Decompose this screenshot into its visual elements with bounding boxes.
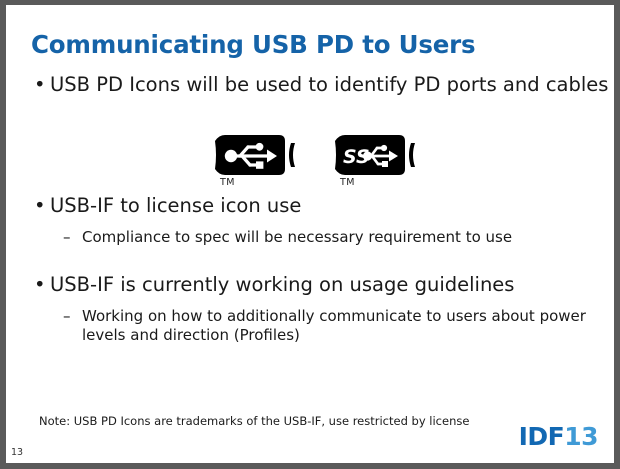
usb-pd-superspeed-icon: SS TM [333, 133, 423, 177]
bullet-marker: • [34, 273, 46, 296]
sub-bullet-marker: – [63, 228, 71, 246]
page-number: 13 [11, 447, 23, 458]
bullet-text: USB-IF is currently working on usage gui… [50, 273, 514, 296]
presentation-slide: Communicating USB PD to Users • USB PD I… [6, 5, 614, 463]
sub-bullet-text: Compliance to spec will be necessary req… [82, 228, 512, 246]
sub-bullet-marker: – [63, 307, 71, 325]
idf13-logo: IDF13 [519, 424, 598, 449]
page-title: Communicating USB PD to Users [31, 30, 475, 59]
slide-frame: Communicating USB PD to Users • USB PD I… [0, 0, 620, 469]
bullet-text: USB PD Icons will be used to identify PD… [50, 73, 608, 96]
idf-logo-text: IDF [519, 422, 565, 451]
usb-pd-superspeed-icon-graphic: SS [333, 133, 423, 177]
idf-logo-year: 13 [564, 422, 598, 451]
usb-icon-row: TM SS [6, 133, 614, 203]
bullet-item-1: • USB PD Icons will be used to identify … [6, 73, 614, 96]
bullet-marker: • [34, 73, 46, 96]
footer-note: Note: USB PD Icons are trademarks of the… [39, 414, 469, 428]
sub-bullet-item-2: – Working on how to additionally communi… [6, 307, 614, 344]
slide-body: • USB PD Icons will be used to identify … [6, 73, 614, 344]
usb-pd-icon-graphic [213, 133, 303, 177]
sub-bullet-text: Working on how to additionally communica… [82, 307, 586, 343]
trademark-label: TM [340, 177, 355, 188]
bullet-item-3: • USB-IF is currently working on usage g… [6, 273, 614, 296]
sub-bullet-item-1: – Compliance to spec will be necessary r… [6, 228, 614, 246]
usb-pd-icon: TM [213, 133, 303, 177]
trademark-label: TM [220, 177, 235, 188]
